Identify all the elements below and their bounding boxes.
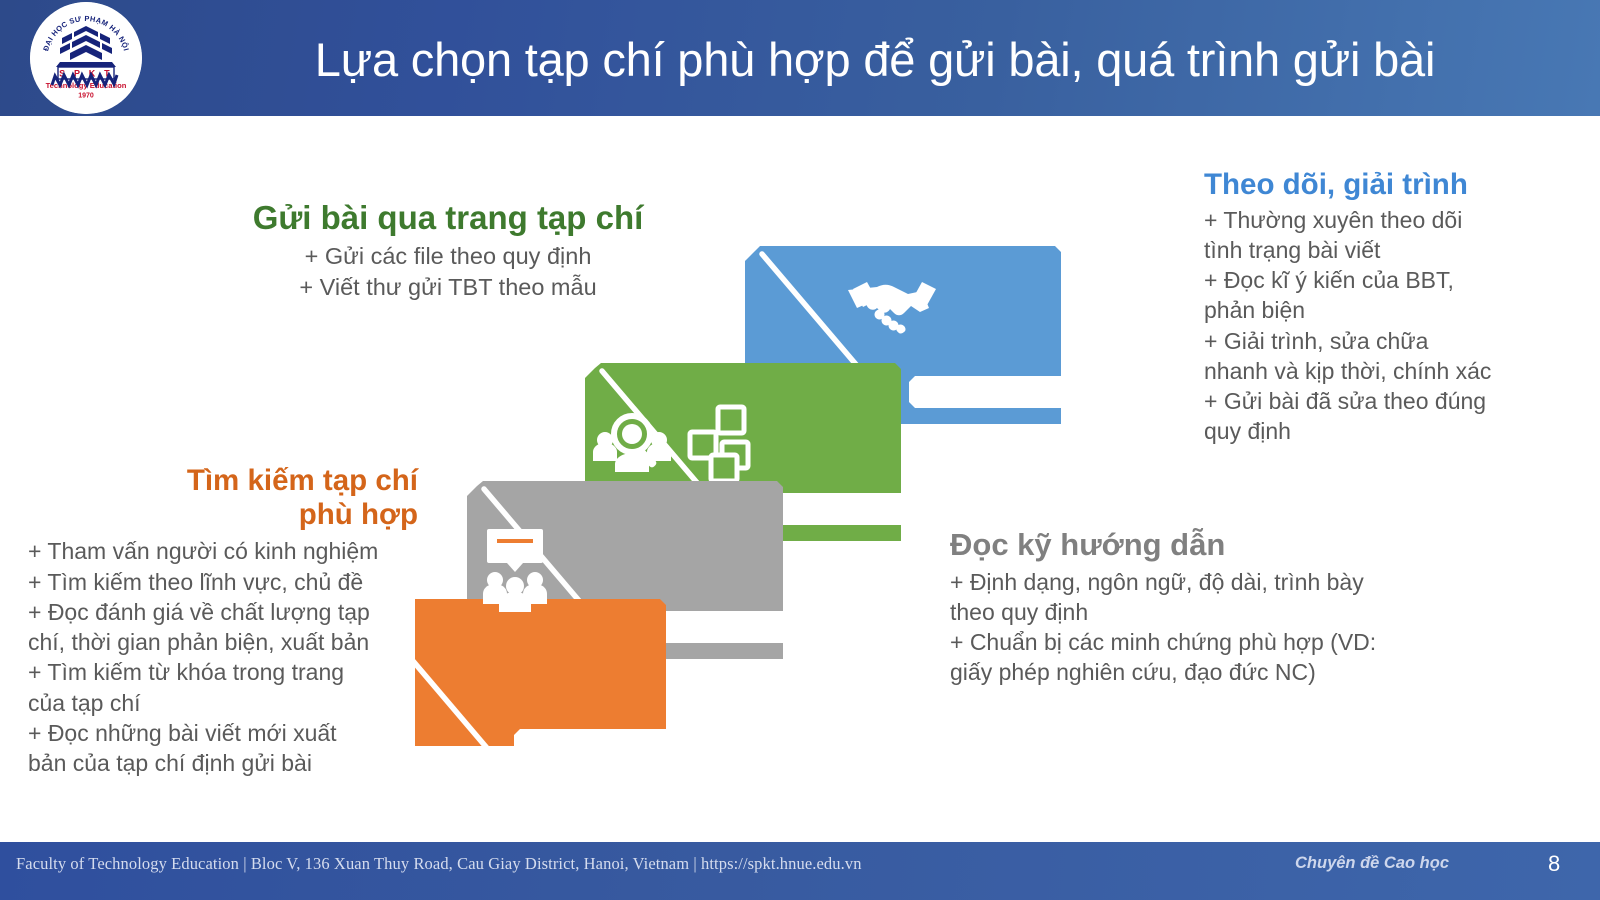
block-blue-heading: Theo dõi, giải trình [1204,168,1534,201]
hnue-spkt-logo: ĐẠI HỌC SƯ PHẠM HÀ NỘI [30,2,142,114]
block-orange-body: + Tham vấn người có kinh nghiệm + Tìm ki… [28,536,418,778]
block-follow-up: Theo dõi, giải trình + Thường xuyên theo… [1204,168,1534,446]
slide-body: Gửi bài qua trang tạp chí + Gửi các file… [0,116,1600,842]
block-find-journal: Tìm kiếm tạp chí phù hợp + Tham vấn ngườ… [28,464,418,778]
page-title: Lựa chọn tạp chí phù hợp để gửi bài, quá… [180,14,1570,104]
block-submit-via-journal: Gửi bài qua trang tạp chí + Gửi các file… [188,200,708,303]
logo-year: 1970 [78,93,94,100]
slide: ĐẠI HỌC SƯ PHẠM HÀ NỘI [0,0,1600,900]
logo-circle: ĐẠI HỌC SƯ PHẠM HÀ NỘI [30,2,142,114]
block-gray-heading: Đọc kỹ hướng dẫn [950,528,1470,563]
page-number: 8 [1548,851,1560,877]
logo-artwork: ĐẠI HỌC SƯ PHẠM HÀ NỘI [30,2,142,114]
slide-header: ĐẠI HỌC SƯ PHẠM HÀ NỘI [0,0,1600,116]
block-green-body: + Gửi các file theo quy định + Viết thư … [188,241,708,303]
block-gray-body: + Định dạng, ngôn ngữ, độ dài, trình bày… [950,567,1470,688]
block-blue-body: + Thường xuyên theo dõi tình trạng bài v… [1204,205,1534,446]
slide-footer: Faculty of Technology Education | Bloc V… [0,842,1600,900]
block-read-guidelines: Đọc kỹ hướng dẫn + Định dạng, ngôn ngữ, … [950,528,1470,687]
block-orange-heading: Tìm kiếm tạp chí phù hợp [28,464,418,532]
footer-course-label: Chuyên đề Cao học [1295,854,1449,873]
block-green-heading: Gửi bài qua trang tạp chí [188,200,708,237]
logo-acronym: S P K T [59,69,113,79]
footer-address: Faculty of Technology Education | Bloc V… [16,854,862,874]
